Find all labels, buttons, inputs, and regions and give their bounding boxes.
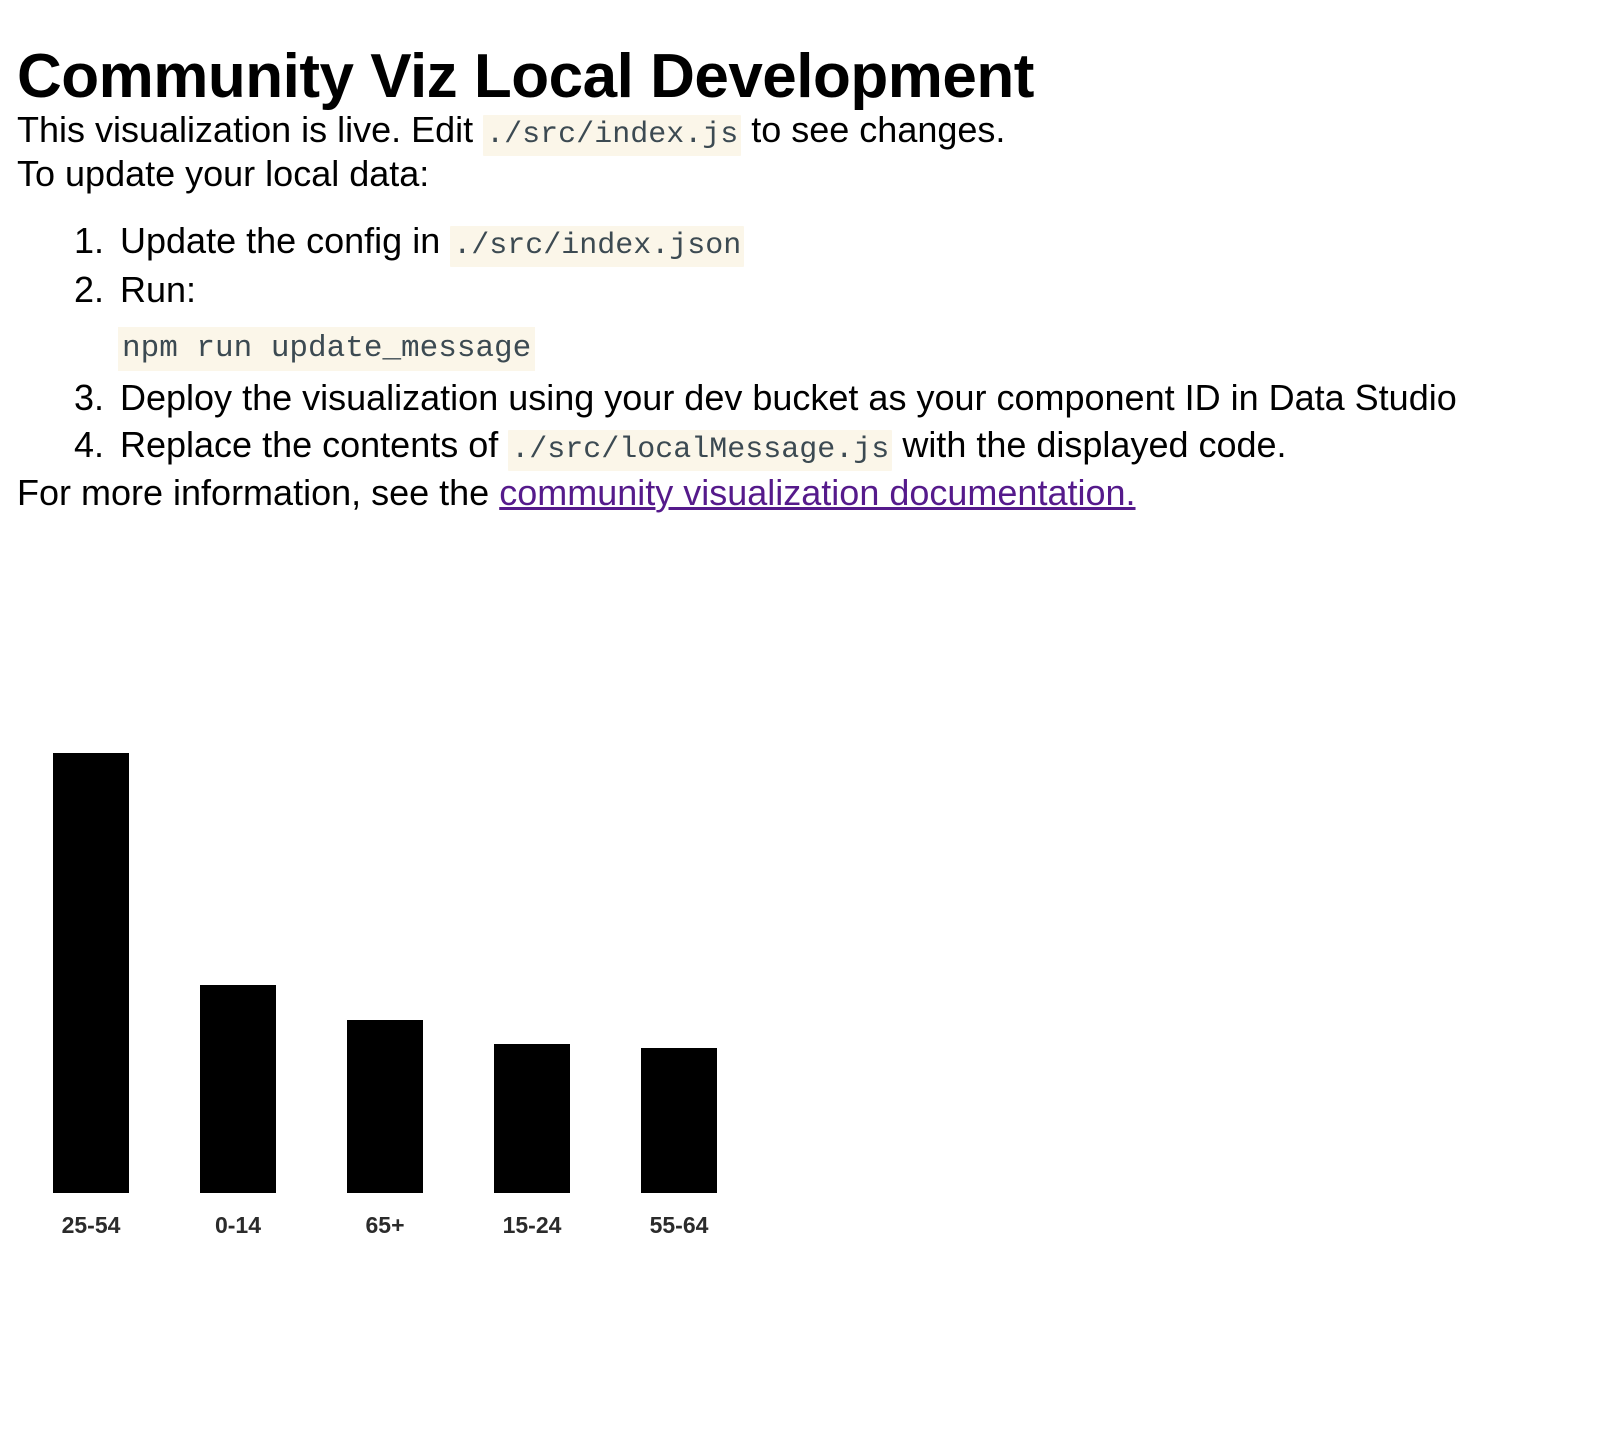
- step-2-text-before: Run:: [120, 269, 196, 310]
- bar-label-15-24: 15-24: [503, 1212, 562, 1238]
- list-item: Update the config in ./src/index.json: [114, 218, 1577, 266]
- inline-code-index-json: ./src/index.json: [450, 226, 744, 267]
- bar-65+[interactable]: [347, 1020, 423, 1193]
- bar-label-25-54: 25-54: [62, 1212, 121, 1238]
- code-block-npm-run: npm run update_message: [118, 321, 1577, 369]
- bar-15-24[interactable]: [494, 1044, 570, 1193]
- step-4-text-before: Replace the contents of: [120, 424, 508, 465]
- page-title: Community Viz Local Development: [17, 44, 1577, 109]
- list-item: Run: npm run update_message: [114, 267, 1577, 369]
- step-3-text-before: Deploy the visualization using your dev …: [120, 377, 1457, 418]
- more-info-text-before: For more information, see the: [17, 472, 499, 513]
- steps-list: Update the config in ./src/index.json Ru…: [17, 218, 1577, 470]
- step-4-text-after: with the displayed code.: [892, 424, 1286, 465]
- bar-25-54[interactable]: [53, 753, 129, 1193]
- document-content: Community Viz Local Development This vis…: [17, 44, 1577, 514]
- step-1-text-before: Update the config in: [120, 220, 450, 261]
- code-block-npm-run-text: npm run update_message: [118, 327, 535, 371]
- bar-label-0-14: 0-14: [215, 1212, 261, 1238]
- bar-0-14[interactable]: [200, 985, 276, 1193]
- intro-text-before: This visualization is live. Edit: [17, 109, 483, 150]
- bar-chart-category-labels: 25-540-1465+15-2455-64: [62, 1212, 709, 1238]
- bar-chart-bars: [53, 753, 717, 1193]
- intro-paragraph: This visualization is live. Edit ./src/i…: [17, 109, 1577, 153]
- bar-label-65+: 65+: [365, 1212, 404, 1238]
- list-item: Deploy the visualization using your dev …: [114, 375, 1577, 420]
- intro-text-after: to see changes.: [741, 109, 1005, 150]
- page-root: Community Viz Local Development This vis…: [0, 0, 1600, 1435]
- community-visualization-documentation-link[interactable]: community visualization documentation.: [499, 472, 1135, 513]
- bar-label-55-64: 55-64: [650, 1212, 709, 1238]
- bar-chart-svg: 25-540-1465+15-2455-64: [0, 690, 800, 1270]
- inline-code-index-js: ./src/index.js: [483, 115, 741, 156]
- inline-code-localmessage-js: ./src/localMessage.js: [508, 430, 892, 471]
- list-item: Replace the contents of ./src/localMessa…: [114, 422, 1577, 470]
- bar-55-64[interactable]: [641, 1048, 717, 1193]
- update-lead-paragraph: To update your local data:: [17, 153, 1577, 195]
- bar-chart: 25-540-1465+15-2455-64: [0, 690, 800, 1270]
- more-info-paragraph: For more information, see the community …: [17, 472, 1577, 514]
